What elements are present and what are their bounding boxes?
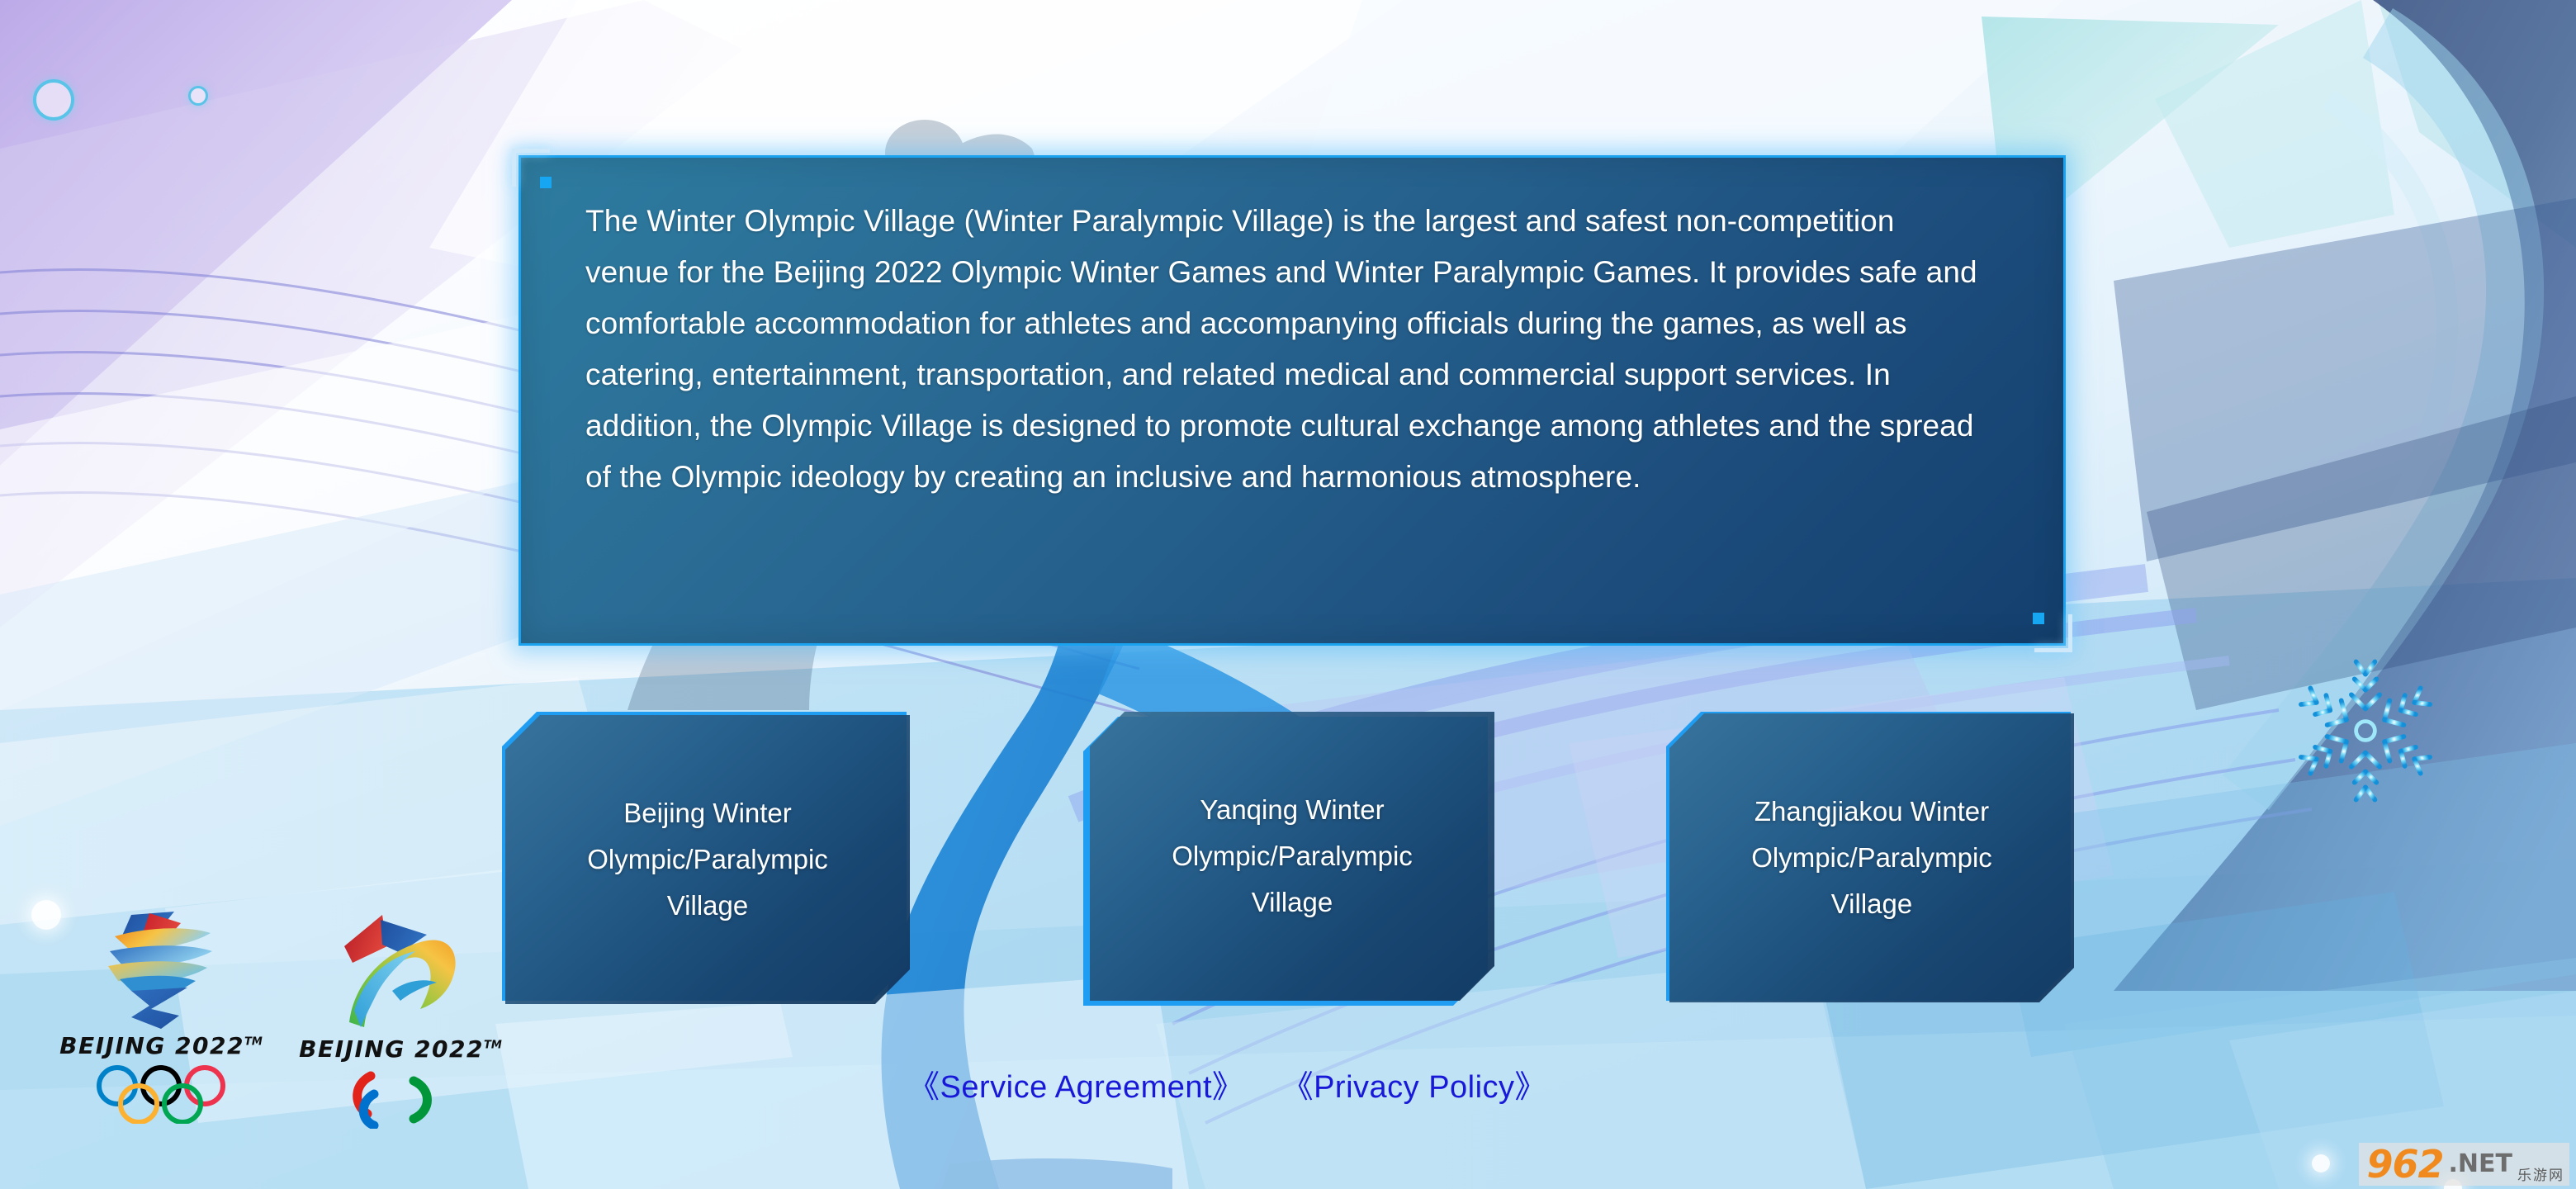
site-watermark: 962 .NET 乐游网 (2359, 1143, 2570, 1186)
trademark-symbol: TM (484, 1040, 502, 1052)
winter-olympic-village-page: The Winter Olympic Village (Winter Paral… (0, 0, 2576, 1189)
olympic-wordmark: BEIJING 2022TM (58, 1032, 264, 1059)
description-panel-body: The Winter Olympic Village (Winter Paral… (519, 155, 2066, 646)
village-card-line-2: Olympic/Paralympic (1172, 838, 1413, 874)
village-card-line-3: Village (667, 888, 748, 924)
watermark-chinese-name: 乐游网 (2517, 1169, 2564, 1183)
village-card-line-1: Zhangjiakou Winter (1754, 793, 1989, 830)
description-panel: The Winter Olympic Village (Winter Paral… (512, 149, 2072, 652)
watermark-domain: .NET (2449, 1145, 2512, 1183)
paralympic-agitos-icon (343, 1068, 458, 1129)
paralympic-wordmark: BEIJING 2022TM (297, 1035, 504, 1063)
village-card-line-1: Beijing Winter (623, 795, 792, 831)
description-text: The Winter Olympic Village (Winter Paral… (585, 196, 1981, 503)
village-card-beijing-slot: Beijing Winter Olympic/Paralympic Villag… (502, 712, 915, 1009)
village-card-line-2: Olympic/Paralympic (587, 841, 828, 878)
emblem-group: BEIJING 2022TM (58, 908, 520, 1181)
panel-corner-accent-bottom-right (2033, 613, 2044, 624)
trademark-symbol: TM (244, 1036, 263, 1049)
decor-circle-small (188, 86, 208, 106)
village-card-line-2: Olympic/Paralympic (1751, 840, 1992, 876)
watermark-number: 962 (2367, 1145, 2444, 1183)
beijing-2022-paralympic-emblem: BEIJING 2022TM (297, 912, 504, 1129)
privacy-policy-link[interactable]: 《Privacy Policy》 (1282, 1061, 1547, 1106)
village-card-yanqing-slot: Yanqing Winter Olympic/Paralympic Villag… (1083, 717, 1496, 1014)
panel-corner-accent-top-left (540, 177, 552, 188)
village-card-yanqing[interactable]: Yanqing Winter Olympic/Paralympic Villag… (1090, 712, 1494, 1001)
service-agreement-link[interactable]: 《Service Agreement》 (908, 1061, 1244, 1106)
footer-links: 《Service Agreement》 《Privacy Policy》 (908, 1061, 1546, 1106)
village-card-line-3: Village (1831, 886, 1912, 922)
decor-circle-large (33, 79, 74, 121)
village-card-beijing[interactable]: Beijing Winter Olympic/Paralympic Villag… (505, 715, 910, 1004)
beijing-2022-olympic-emblem: BEIJING 2022TM (58, 908, 264, 1124)
village-card-zhangjiakou-slot: Zhangjiakou Winter Olympic/Paralympic Vi… (1666, 712, 2079, 1009)
village-card-line-1: Yanqing Winter (1200, 792, 1384, 828)
paralympic-flying-icon (334, 912, 466, 1035)
olympic-winter-dream-icon (95, 908, 227, 1032)
carousel-dot-1[interactable] (2312, 1154, 2330, 1172)
olympic-rings-icon (91, 1064, 231, 1124)
village-card-zhangjiakou[interactable]: Zhangjiakou Winter Olympic/Paralympic Vi… (1669, 713, 2074, 1002)
village-card-line-3: Village (1252, 884, 1333, 921)
